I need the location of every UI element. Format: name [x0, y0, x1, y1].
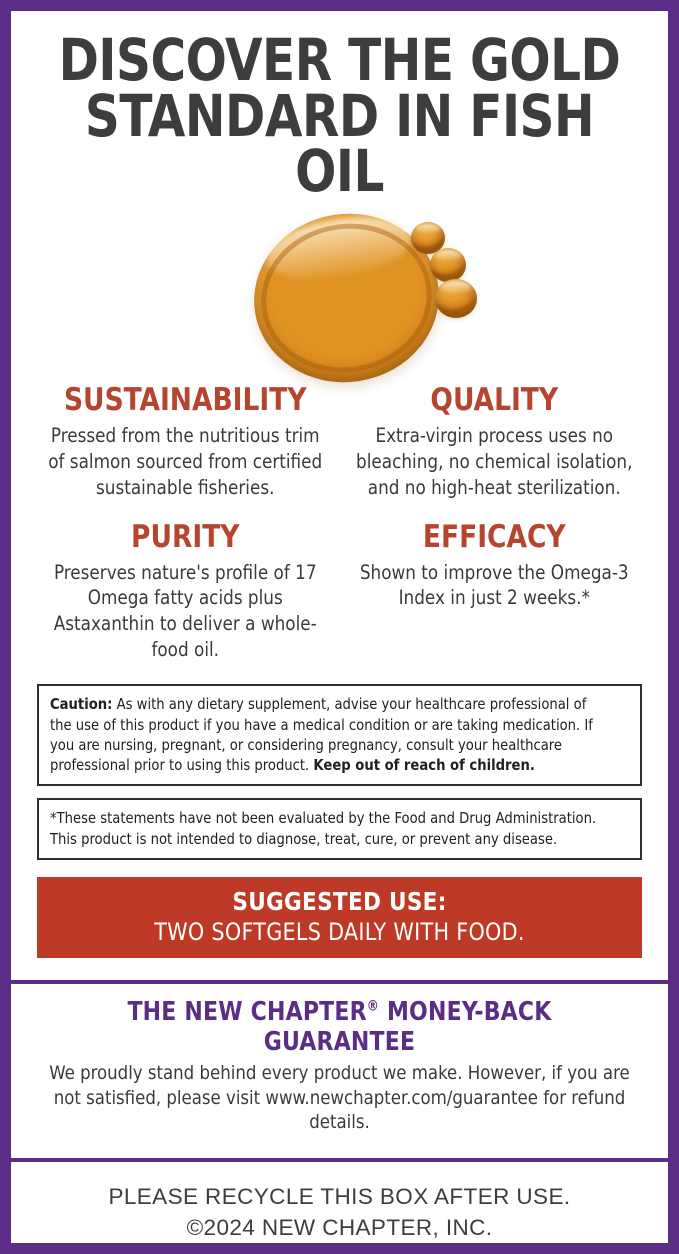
benefit-body: Extra-virgin process uses no bleaching, …: [353, 423, 634, 500]
benefit-efficacy: EFFICACY Shown to improve the Omega-3 In…: [340, 519, 649, 663]
fineprint-section: Caution: As with any dietary supplement,…: [11, 684, 668, 859]
benefits-section: SUSTAINABILITY Pressed from the nutritio…: [11, 382, 668, 662]
benefit-title: SUSTAINABILITY: [46, 382, 324, 418]
registered-trademark-icon: ®: [367, 999, 379, 1015]
oil-droplet-small-icon-2: [430, 248, 466, 282]
benefits-row-bottom: PURITY Preserves nature's profile of 17 …: [31, 519, 648, 663]
package-inner: DISCOVER THE GOLD STANDARD IN FISH OIL S…: [11, 11, 668, 1243]
copyright-notice: ©2024 NEW CHAPTER, INC.: [11, 1213, 668, 1243]
suggested-use-banner: SUGGESTED USE: TWO SOFTGELS DAILY WITH F…: [37, 877, 642, 958]
benefit-title: PURITY: [46, 519, 324, 555]
suggested-use-heading: SUGGESTED USE:: [59, 887, 621, 916]
guarantee-title-brand: THE NEW CHAPTER: [127, 997, 366, 1027]
oil-droplet-small-icon-3: [435, 279, 477, 318]
product-package-panel: DISCOVER THE GOLD STANDARD IN FISH OIL S…: [0, 0, 679, 1254]
caution-text: Caution: As with any dietary supplement,…: [50, 694, 612, 775]
recycle-notice: PLEASE RECYCLE THIS BOX AFTER USE.: [11, 1182, 668, 1212]
oil-droplet-illustration: [11, 206, 668, 382]
benefit-title: EFFICACY: [355, 519, 633, 555]
caution-emphasis: Keep out of reach of children.: [313, 756, 534, 774]
benefit-body: Shown to improve the Omega-3 Index in ju…: [353, 560, 634, 611]
footer-section: PLEASE RECYCLE THIS BOX AFTER USE. ©2024…: [11, 1162, 668, 1243]
benefit-purity: PURITY Preserves nature's profile of 17 …: [31, 519, 340, 663]
guarantee-title: THE NEW CHAPTER® MONEY-BACK GUARANTEE: [49, 997, 630, 1057]
benefit-title: QUALITY: [355, 382, 633, 418]
fda-disclaimer-line-1: *These statements have not been evaluate…: [50, 808, 612, 828]
benefit-body: Pressed from the nutritious trim of salm…: [45, 423, 326, 500]
benefit-body: Preserves nature's profile of 17 Omega f…: [45, 560, 326, 663]
benefits-row-top: SUSTAINABILITY Pressed from the nutritio…: [31, 382, 648, 500]
fda-disclaimer-box: *These statements have not been evaluate…: [37, 798, 642, 859]
benefit-sustainability: SUSTAINABILITY Pressed from the nutritio…: [31, 382, 340, 500]
headline-block: DISCOVER THE GOLD STANDARD IN FISH OIL: [11, 11, 668, 200]
guarantee-body: We proudly stand behind every product we…: [46, 1061, 633, 1144]
caution-label: Caution:: [50, 695, 112, 713]
fda-disclaimer-line-2: This product is not intended to diagnose…: [50, 829, 612, 849]
benefit-quality: QUALITY Extra-virgin process uses no ble…: [340, 382, 649, 500]
page-title: DISCOVER THE GOLD STANDARD IN FISH OIL: [58, 33, 621, 200]
caution-box: Caution: As with any dietary supplement,…: [37, 684, 642, 786]
suggested-use-detail: TWO SOFTGELS DAILY WITH FOOD.: [59, 918, 621, 946]
guarantee-section: THE NEW CHAPTER® MONEY-BACK GUARANTEE We…: [11, 984, 668, 1144]
headline-line-2: STANDARD IN FISH OIL: [58, 89, 621, 200]
